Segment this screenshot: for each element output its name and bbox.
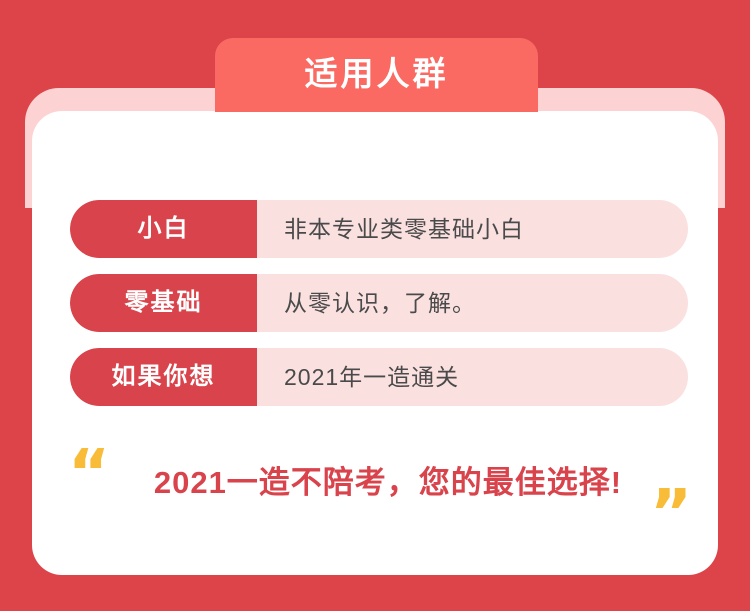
section-header-banner: 适用人群 (215, 38, 538, 112)
list-item: 如果你想 2021年一造通关 (70, 348, 688, 406)
audience-row-body-text: 非本专业类零基础小白 (284, 218, 524, 241)
audience-row-body-0: 非本专业类零基础小白 (257, 200, 688, 258)
section-title: 适用人群 (305, 57, 449, 90)
audience-row-label-2: 如果你想 (70, 348, 257, 406)
audience-row-body-text: 2021年一造通关 (284, 366, 459, 389)
quote-open-icon: “ (68, 442, 110, 506)
audience-row-body-1: 从零认识，了解。 (257, 274, 688, 332)
audience-row-label-text: 零基础 (125, 291, 203, 315)
audience-row-body-2: 2021年一造通关 (257, 348, 688, 406)
tagline-quote-block: “ 2021一造不陪考，您的最佳选择! ” (32, 440, 718, 540)
audience-row-label-text: 如果你想 (112, 365, 216, 389)
list-item: 零基础 从零认识，了解。 (70, 274, 688, 332)
list-item: 小白 非本专业类零基础小白 (70, 200, 688, 258)
tagline-text: 2021一造不陪考，您的最佳选择! (138, 467, 638, 498)
poster-root: 适用人群 小白 非本专业类零基础小白 零基础 从零认识，了解。 如果你想 202 (0, 0, 750, 611)
audience-row-label-text: 小白 (138, 217, 190, 241)
audience-row-label-1: 零基础 (70, 274, 257, 332)
quote-close-icon: ” (650, 482, 692, 546)
audience-list: 小白 非本专业类零基础小白 零基础 从零认识，了解。 如果你想 2021年一造通… (70, 200, 688, 406)
audience-row-body-text: 从零认识，了解。 (284, 292, 476, 315)
audience-row-label-0: 小白 (70, 200, 257, 258)
